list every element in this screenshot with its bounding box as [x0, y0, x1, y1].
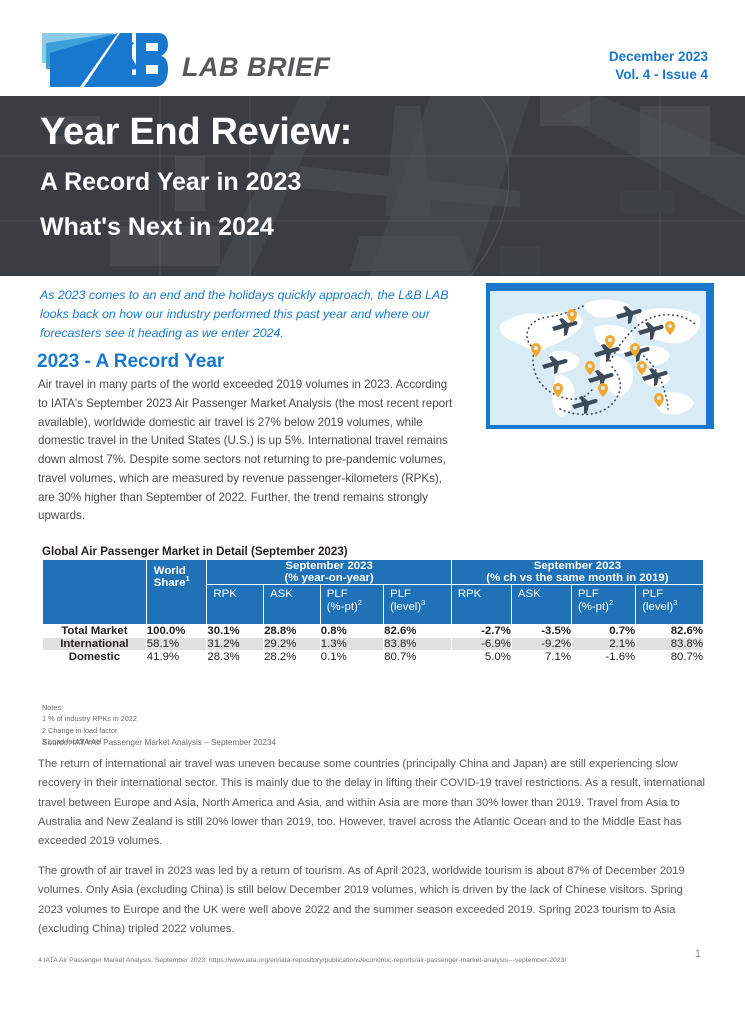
cell-plf-pt-yoy: 0.1%	[320, 651, 383, 664]
cell-rpk-yoy: 28.3%	[207, 651, 264, 664]
cell-world-share: 41.9%	[146, 651, 207, 664]
cell-plf-level-yoy: 82.6%	[384, 625, 452, 638]
header-metric-plf-pt-2019: PLF (%-pt)2	[571, 585, 635, 625]
cell-plf-level-2019: 83.8%	[636, 638, 704, 651]
hero-text-block: Year End Review: A Record Year in 2023 W…	[40, 113, 352, 240]
hero-subhead-2: What's Next in 2024	[40, 215, 352, 240]
header-metric-rpk-yoy: RPK	[207, 585, 264, 625]
body-paragraph-3: The growth of air travel in 2023 was led…	[38, 862, 710, 939]
body-paragraph-2: The return of international air travel w…	[38, 755, 710, 851]
header-metric-plf-pt-yoy: PLF (%-pt)2	[320, 585, 383, 625]
hero-banner: Year End Review: A Record Year in 2023 W…	[0, 96, 745, 276]
table-header-row-groups: World Share1 September 2023 (% year-on-y…	[43, 560, 704, 585]
cell-ask-yoy: 28.8%	[264, 625, 321, 638]
cell-rpk-2019: 5.0%	[451, 651, 511, 664]
header-group-vs2019: September 2023 (% ch vs the same month i…	[451, 560, 703, 585]
header-metric-rpk-2019: RPK	[451, 585, 511, 625]
cell-plf-pt-2019: 0.7%	[571, 625, 635, 638]
hero-headline: Year End Review:	[40, 113, 352, 151]
notes-label: Notes:	[42, 702, 137, 713]
lb-logo	[40, 29, 168, 91]
body-paragraph-1: Air travel in many parts of the world ex…	[38, 376, 458, 526]
section-heading: 2023 - A Record Year	[37, 351, 224, 373]
cell-plf-pt-yoy: 0.8%	[320, 625, 383, 638]
cell-ask-2019: 7.1%	[511, 651, 571, 664]
note-1: 1 % of industry RPKs in 2022	[42, 713, 137, 724]
row-label: Total Market	[43, 625, 147, 638]
intro-paragraph: As 2023 comes to an end and the holidays…	[40, 286, 465, 344]
cell-rpk-yoy: 30.1%	[207, 625, 264, 638]
header-metric-plf-level-2019: PLF (level)3	[636, 585, 704, 625]
cell-rpk-2019: -6.9%	[451, 638, 511, 651]
world-route-map	[490, 291, 706, 425]
table-source: Source: IATA Air Passenger Market Analys…	[42, 738, 276, 747]
footnote-reference: 4 IATA Air Passenger Market Analysis, Se…	[38, 957, 698, 964]
cell-rpk-yoy: 31.2%	[207, 638, 264, 651]
table-row: Total Market 100.0% 30.1% 28.8% 0.8% 82.…	[43, 625, 704, 638]
newsletter-page: LAB BRIEF December 2023 Vol. 4 - Issue 4	[0, 0, 745, 1024]
cell-plf-pt-2019: -1.6%	[571, 651, 635, 664]
header-metric-ask-2019: ASK	[511, 585, 571, 625]
table-title: Global Air Passenger Market in Detail (S…	[42, 545, 348, 558]
header-metric-ask-yoy: ASK	[264, 585, 321, 625]
issue-info: December 2023 Vol. 4 - Issue 4	[609, 48, 708, 84]
table-row: Domestic 41.9% 28.3% 28.2% 0.1% 80.7% 5.…	[43, 651, 704, 664]
header-metric-plf-level-yoy: PLF (level)3	[384, 585, 452, 625]
issue-volume: Vol. 4 - Issue 4	[609, 66, 708, 84]
world-route-map-card	[486, 283, 714, 429]
cell-plf-pt-yoy: 1.3%	[320, 638, 383, 651]
cell-world-share: 58.1%	[146, 638, 207, 651]
air-passenger-market-table: World Share1 September 2023 (% year-on-y…	[42, 559, 704, 664]
header-group-yoy: September 2023 (% year-on-year)	[207, 560, 451, 585]
page-number: 1	[695, 948, 701, 960]
cell-ask-2019: -9.2%	[511, 638, 571, 651]
cell-ask-2019: -3.5%	[511, 625, 571, 638]
cell-plf-level-yoy: 80.7%	[384, 651, 452, 664]
cell-ask-yoy: 28.2%	[264, 651, 321, 664]
row-label: Domestic	[43, 651, 147, 664]
cell-plf-level-2019: 82.6%	[636, 625, 704, 638]
cell-rpk-2019: -2.7%	[451, 625, 511, 638]
header-world-share: World Share1	[146, 560, 207, 625]
cell-plf-level-yoy: 83.8%	[384, 638, 452, 651]
note-2: 2 Change in load factor	[42, 725, 137, 736]
table-row: International 58.1% 31.2% 29.2% 1.3% 83.…	[43, 638, 704, 651]
cell-ask-yoy: 29.2%	[264, 638, 321, 651]
cell-plf-pt-2019: 2.1%	[571, 638, 635, 651]
row-label: International	[43, 638, 147, 651]
hero-subhead-1: A Record Year in 2023	[40, 170, 352, 195]
cell-plf-level-2019: 80.7%	[636, 651, 704, 664]
cell-world-share: 100.0%	[146, 625, 207, 638]
masthead: LAB BRIEF December 2023 Vol. 4 - Issue 4	[0, 0, 745, 96]
issue-date: December 2023	[609, 48, 708, 66]
header-corner-cell	[43, 560, 147, 625]
publication-title: LAB BRIEF	[182, 52, 331, 83]
